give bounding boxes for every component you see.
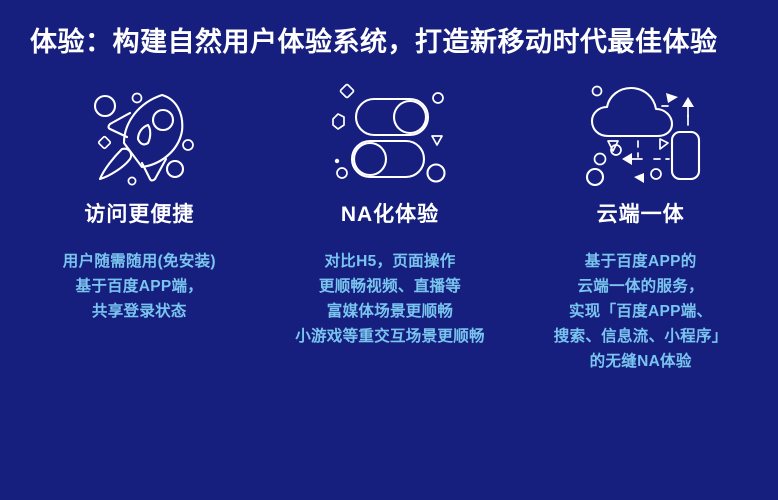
feature-columns: 访问更便捷 用户随需随用(免安装) 基于百度APP端， 共享登录状态 xyxy=(0,60,778,500)
body-line: 共享登录状态 xyxy=(63,299,216,324)
feature-column-cloud: 云端一体 基于百度APP的 云端一体的服务， 实现「百度APP端、 搜索、信息流… xyxy=(515,78,770,375)
body-line: 基于百度APP的 xyxy=(554,249,728,274)
rocket-icon xyxy=(79,78,199,188)
cloud-device-sync-icon xyxy=(581,78,701,188)
body-line: 搜索、信息流、小程序」 xyxy=(554,324,728,349)
feature-body-na: 对比H5，页面操作 更顺畅视频、直播等 富媒体场景更顺畅 小游戏等重交互场景更顺… xyxy=(295,249,485,349)
body-line: 用户随需随用(免安装) xyxy=(63,249,216,274)
body-line: 云端一体的服务， xyxy=(554,274,728,299)
body-line: 更顺畅视频、直播等 xyxy=(295,274,485,299)
feature-heading-na: NA化体验 xyxy=(341,202,439,227)
body-line: 富媒体场景更顺畅 xyxy=(295,299,485,324)
feature-column-na: NA化体验 对比H5，页面操作 更顺畅视频、直播等 富媒体场景更顺畅 小游戏等重… xyxy=(265,78,516,350)
body-line: 实现「百度APP端、 xyxy=(554,299,728,324)
body-line: 的无缝NA体验 xyxy=(554,349,728,374)
title-bar: 体验：构建自然用户体验系统，打造新移动时代最佳体验 xyxy=(0,0,778,60)
feature-heading-cloud: 云端一体 xyxy=(597,202,685,227)
page-title: 体验：构建自然用户体验系统，打造新移动时代最佳体验 xyxy=(30,26,760,60)
feature-column-access: 访问更便捷 用户随需随用(免安装) 基于百度APP端， 共享登录状态 xyxy=(8,78,265,325)
presentation-slide: 体验：构建自然用户体验系统，打造新移动时代最佳体验 xyxy=(0,0,778,500)
feature-body-cloud: 基于百度APP的 云端一体的服务， 实现「百度APP端、 搜索、信息流、小程序」… xyxy=(554,249,728,375)
toggle-switches-icon xyxy=(330,78,450,188)
feature-body-access: 用户随需随用(免安装) 基于百度APP端， 共享登录状态 xyxy=(63,249,216,324)
body-line: 对比H5，页面操作 xyxy=(295,249,485,274)
feature-heading-access: 访问更便捷 xyxy=(84,202,194,227)
body-line: 小游戏等重交互场景更顺畅 xyxy=(295,324,485,349)
body-line: 基于百度APP端， xyxy=(63,274,216,299)
